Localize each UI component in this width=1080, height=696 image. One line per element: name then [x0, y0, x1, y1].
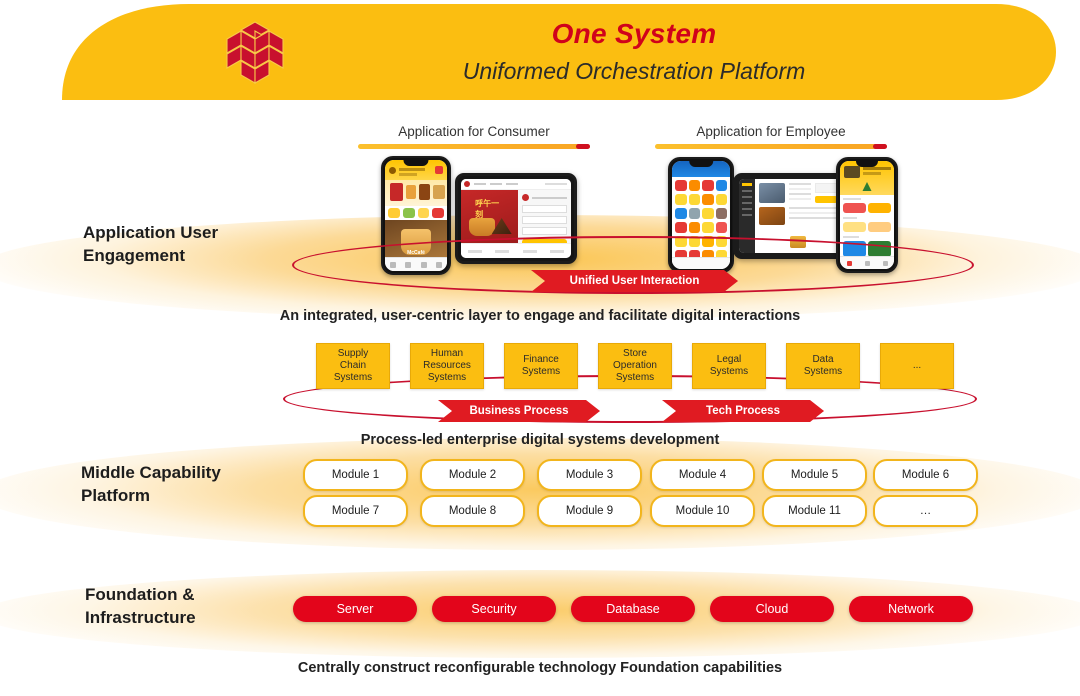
diagram-canvas: One System Uniformed Orchestration Platf…: [0, 0, 1080, 696]
consumer-phone-mockup: McCafé: [381, 156, 451, 275]
foundation-pill-cloud[interactable]: Cloud: [710, 596, 834, 622]
module-pill-1[interactable]: Module 1: [303, 459, 408, 491]
red-cube-icon: [219, 20, 291, 88]
phone-screen: [672, 161, 730, 269]
tablet-screen: 呼午一刻: [461, 179, 571, 258]
module-pill-2[interactable]: Module 2: [420, 459, 525, 491]
unified-user-interaction-label: Unified User Interaction: [570, 275, 700, 287]
tablet-screen: [739, 179, 841, 253]
consumer-tablet-mockup: 呼午一刻: [455, 173, 577, 264]
phone-notch: [689, 161, 713, 167]
system-box-data[interactable]: Data Systems: [786, 343, 860, 389]
module-pill-10[interactable]: Module 10: [650, 495, 755, 527]
app-heading-employee: Application for Employee: [655, 124, 887, 149]
module-pill-5[interactable]: Module 5: [762, 459, 867, 491]
employee-tablet-mockup: [733, 173, 847, 259]
module-pill-9[interactable]: Module 9: [537, 495, 642, 527]
application-tier-caption: An integrated, user-centric layer to eng…: [0, 308, 1080, 324]
module-pill-6[interactable]: Module 6: [873, 459, 978, 491]
module-pill-8[interactable]: Module 8: [420, 495, 525, 527]
page-subtitle: Uniformed Orchestration Platform: [314, 58, 954, 85]
phone-screen: [840, 161, 894, 269]
app-heading-consumer-label: Application for Consumer: [358, 124, 590, 139]
employee-phone-yellow-mockup: [836, 157, 898, 273]
business-process-label: Business Process: [469, 405, 568, 417]
system-box-finance[interactable]: Finance Systems: [504, 343, 578, 389]
foundation-pill-server[interactable]: Server: [293, 596, 417, 622]
foundation-pill-security[interactable]: Security: [432, 596, 556, 622]
underline-tip: [873, 144, 887, 149]
system-box-legal[interactable]: Legal Systems: [692, 343, 766, 389]
tier-label-middle: Middle Capability Platform: [81, 462, 221, 508]
tier-label-application: Application User Engagement: [83, 222, 218, 268]
system-box-human-resources[interactable]: Human Resources Systems: [410, 343, 484, 389]
foundation-tier-caption: Centrally construct reconfigurable techn…: [0, 660, 1080, 676]
system-box-supply-chain[interactable]: Supply Chain Systems: [316, 343, 390, 389]
foundation-pill-database[interactable]: Database: [571, 596, 695, 622]
app-heading-employee-underline: [655, 144, 887, 149]
tech-process-label: Tech Process: [706, 405, 780, 417]
module-pill-11[interactable]: Module 11: [762, 495, 867, 527]
page-title: One System: [314, 18, 954, 50]
system-box-more[interactable]: ...: [880, 343, 954, 389]
phone-notch: [403, 160, 428, 166]
app-heading-employee-label: Application for Employee: [655, 124, 887, 139]
module-pill-3[interactable]: Module 3: [537, 459, 642, 491]
module-pill-more[interactable]: …: [873, 495, 978, 527]
phone-screen: McCafé: [385, 160, 447, 271]
app-heading-consumer-underline: [358, 144, 590, 149]
header-banner: One System Uniformed Orchestration Platf…: [14, 4, 1056, 100]
employee-phone-blue-mockup: [668, 157, 734, 273]
tech-process-arrow: Tech Process: [662, 400, 824, 422]
app-heading-consumer: Application for Consumer: [358, 124, 590, 149]
unified-user-interaction-arrow: Unified User Interaction: [531, 270, 738, 292]
tier-label-foundation: Foundation & Infrastructure: [85, 584, 196, 630]
foundation-pill-network[interactable]: Network: [849, 596, 973, 622]
phone-notch: [856, 161, 878, 167]
underline-tip: [576, 144, 590, 149]
system-box-store-operation[interactable]: Store Operation Systems: [598, 343, 672, 389]
module-pill-7[interactable]: Module 7: [303, 495, 408, 527]
module-pill-4[interactable]: Module 4: [650, 459, 755, 491]
business-tier-caption: Process-led enterprise digital systems d…: [0, 432, 1080, 448]
business-process-arrow: Business Process: [438, 400, 600, 422]
